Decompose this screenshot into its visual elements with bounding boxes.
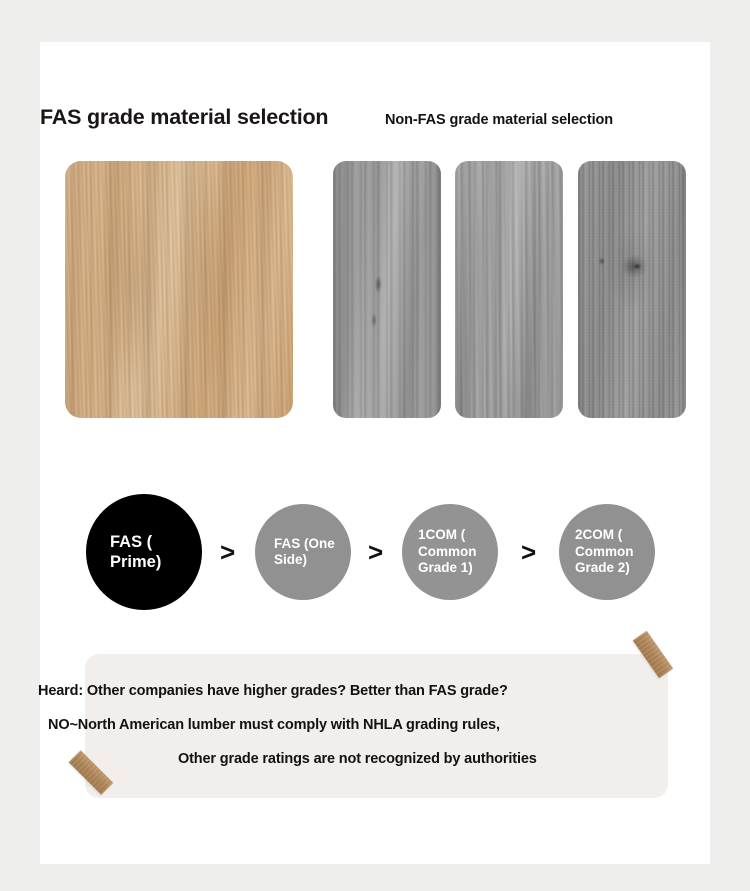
grade-circle-label: FAS ( Prime): [110, 532, 202, 572]
grade-circle-2com: 2COM ( Common Grade 2): [559, 504, 655, 600]
grade-circle-label: 1COM ( Common Grade 1): [418, 527, 498, 576]
grade-separator-icon-2: >: [368, 537, 383, 568]
grade-circle-fas-prime: FAS ( Prime): [86, 494, 202, 610]
grade-separator-icon-1: >: [220, 537, 235, 568]
page-background: FAS grade material selection Non-FAS gra…: [0, 0, 750, 891]
section-subtitle: Non-FAS grade material selection: [385, 112, 613, 128]
page-title: FAS grade material selection: [40, 105, 328, 130]
grade-circle-fas-one-side: FAS (One Side): [255, 504, 351, 600]
grade-circle-label: FAS (One Side): [274, 536, 351, 569]
grade-circle-1com: 1COM ( Common Grade 1): [402, 504, 498, 600]
non-fas-wood-swatch-2: [455, 161, 563, 418]
content-card: FAS grade material selection Non-FAS gra…: [40, 42, 710, 864]
callout-line-2: NO~North American lumber must comply wit…: [48, 717, 500, 733]
non-fas-wood-swatch-3: [578, 161, 686, 418]
callout-line-3: Other grade ratings are not recognized b…: [178, 751, 537, 767]
non-fas-wood-swatch-1: [333, 161, 441, 418]
callout-line-1: Heard: Other companies have higher grade…: [38, 683, 508, 699]
grade-circle-label: 2COM ( Common Grade 2): [575, 527, 655, 576]
fas-wood-swatch: [65, 161, 293, 418]
grade-separator-icon-3: >: [521, 537, 536, 568]
